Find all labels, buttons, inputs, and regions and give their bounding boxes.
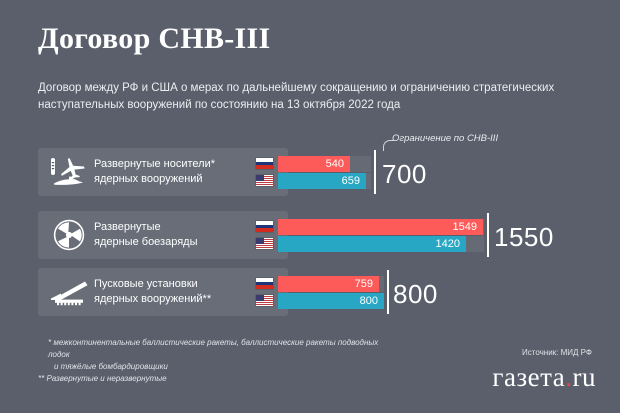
data-row-warheads: Развернутые ядерные боезаряды 1549 1420 … xyxy=(0,211,620,259)
bar-value-usa: 1420 xyxy=(436,236,460,252)
row-label: Развернутые носители* ядерных вооружений xyxy=(94,148,215,196)
flag-russia-icon xyxy=(256,278,273,289)
footnotes: * межконтинентальные баллистические раке… xyxy=(48,337,388,385)
row-label-line1: Развернутые носители* xyxy=(94,157,215,173)
limit-value: 800 xyxy=(393,281,438,307)
bar-russia: 759 xyxy=(278,276,379,292)
footnote-1-line2: и тяжёлые бомбардировщики xyxy=(54,361,388,373)
radiation-icon xyxy=(46,211,92,259)
bar-track-usa: 800 xyxy=(278,293,384,309)
row-label: Развернутые ядерные боезаряды xyxy=(94,211,198,259)
row-label: Пусковые установки ядерных вооружений** xyxy=(94,268,211,316)
limit-value: 700 xyxy=(382,161,427,187)
page-subtitle: Договор между РФ и США о мерах по дальне… xyxy=(38,80,558,114)
flag-russia-icon xyxy=(256,221,273,232)
bar-russia: 540 xyxy=(278,156,350,172)
missile-plane-submarine-icon xyxy=(46,148,92,196)
row-label-line1: Развернутые xyxy=(94,220,198,236)
bar-track-russia: 1549 xyxy=(278,219,484,235)
data-row-carriers: Развернутые носители* ядерных вооружений… xyxy=(0,148,620,196)
row-label-line1: Пусковые установки xyxy=(94,277,211,293)
row-label-line2: ядерных вооружений xyxy=(94,172,215,188)
limit-annotation-label: Ограничение по СНВ-III xyxy=(392,133,498,144)
infographic-canvas: Договор СНВ-III Договор между РФ и США о… xyxy=(0,0,620,413)
page-title: Договор СНВ-III xyxy=(38,22,270,56)
missile-launcher-icon xyxy=(46,268,92,316)
row-label-line2: ядерные боезаряды xyxy=(94,235,198,251)
bar-value-usa: 659 xyxy=(342,173,360,189)
bar-usa: 659 xyxy=(278,173,366,189)
limit-line xyxy=(487,213,489,257)
limit-line xyxy=(374,150,376,194)
limit-value: 1550 xyxy=(494,224,554,250)
footnote-2: ** Развернутые и неразвернутые xyxy=(38,373,388,385)
bar-value-usa: 800 xyxy=(360,293,378,309)
bar-value-russia: 1549 xyxy=(453,219,477,235)
row-label-line2: ядерных вооружений** xyxy=(94,292,211,308)
logo-gazeta-ru: газета.ru xyxy=(492,362,596,393)
logo-name: газета xyxy=(492,362,565,392)
bar-track-russia: 540 xyxy=(278,156,371,172)
logo-dot: . xyxy=(565,362,572,392)
bar-track-usa: 659 xyxy=(278,173,371,189)
bar-russia: 1549 xyxy=(278,219,483,235)
bar-usa: 800 xyxy=(278,293,384,309)
logo-tld: ru xyxy=(573,362,597,392)
limit-line xyxy=(387,270,389,314)
bar-usa: 1420 xyxy=(278,236,466,252)
flag-usa-icon xyxy=(256,295,273,306)
footnote-1-line1: * межконтинентальные баллистические раке… xyxy=(48,337,388,361)
flag-usa-icon xyxy=(256,238,273,249)
data-row-launchers: Пусковые установки ядерных вооружений** … xyxy=(0,268,620,316)
bar-value-russia: 540 xyxy=(326,156,344,172)
bar-value-russia: 759 xyxy=(355,276,373,292)
source-label: Источник: МИД РФ xyxy=(522,348,592,357)
flag-russia-icon xyxy=(256,158,273,169)
flag-usa-icon xyxy=(256,175,273,186)
bar-track-russia: 759 xyxy=(278,276,384,292)
bar-track-usa: 1420 xyxy=(278,236,484,252)
